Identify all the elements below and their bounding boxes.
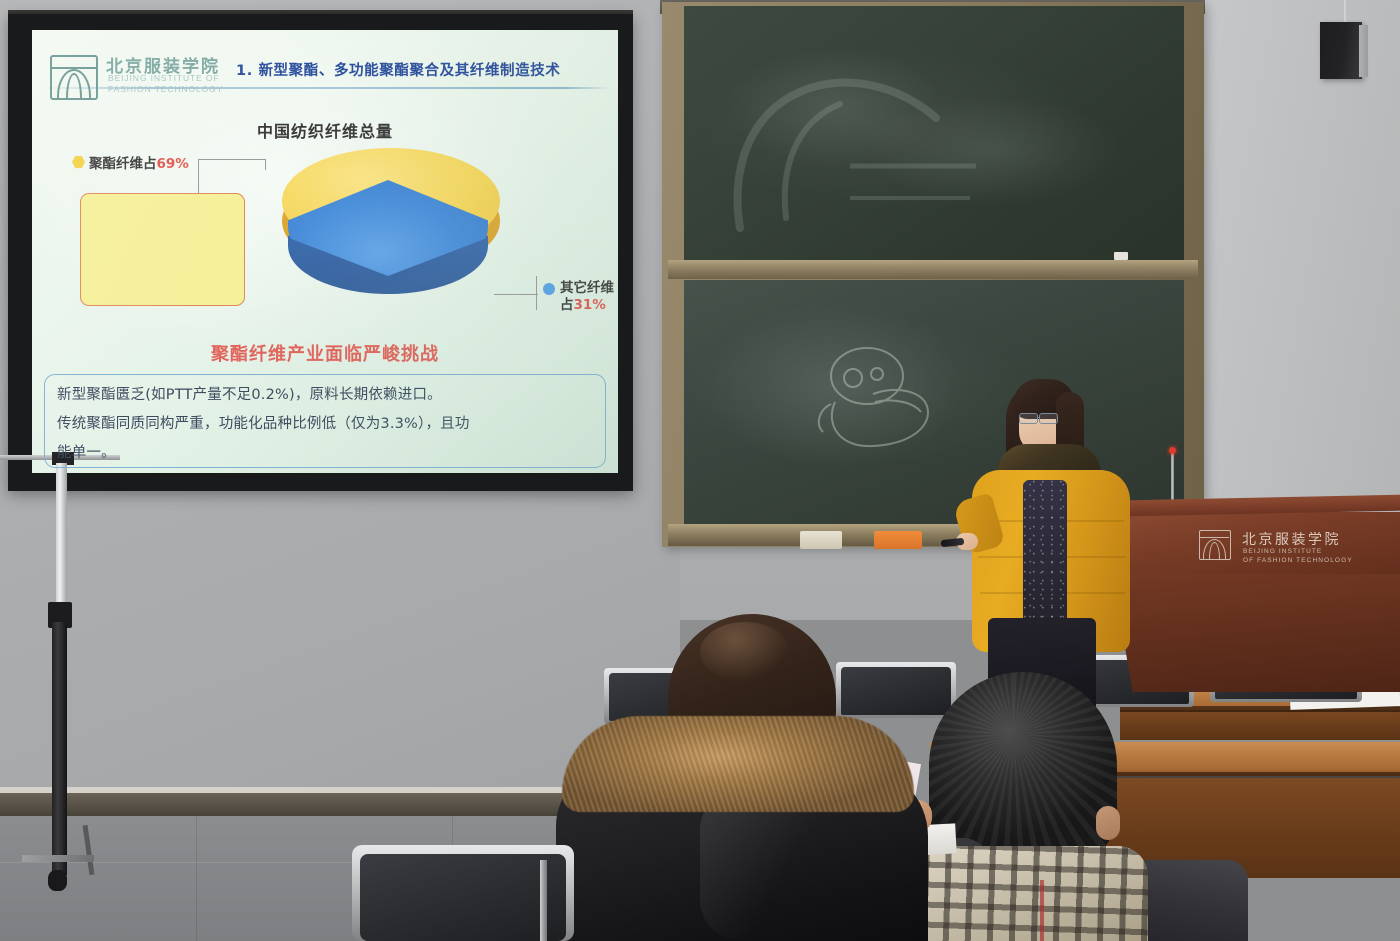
erased-chalk-marks xyxy=(700,48,1000,248)
circle-marker-icon xyxy=(543,283,555,295)
blackboard-upper-panel[interactable] xyxy=(684,6,1184,261)
legend-text-polyester: 聚酯纤维占 xyxy=(89,156,157,172)
callout-line xyxy=(198,159,266,160)
screen-stand-foot xyxy=(22,855,94,862)
slide-title: 1. 新型聚酯、多功能聚酯聚合及其纤维制造技术 xyxy=(236,59,560,80)
presenter-inner-top xyxy=(1023,480,1067,635)
yellow-content-panel xyxy=(80,193,245,306)
podium-institution-name-en: BEIJING INSTITUTE OF FASHION TECHNOLOGY xyxy=(1243,547,1353,565)
podium-base xyxy=(1103,572,1400,692)
podium-arch-emblem-icon xyxy=(1199,530,1231,560)
glasses-left-lens-icon xyxy=(1019,413,1038,424)
screen-stand-pole-upper xyxy=(56,463,67,611)
glasses-bridge-icon xyxy=(1037,417,1040,418)
legend-value-polyester: 69% xyxy=(157,156,189,172)
fur-texture xyxy=(562,716,914,812)
chair-leg xyxy=(540,860,547,941)
blackboard-upper-tray xyxy=(668,260,1198,279)
chair-back[interactable] xyxy=(841,667,951,715)
audience-plaid-scarf xyxy=(908,846,1148,941)
slide-header: 北京服装学院 BEIJING INSTITUTE OF FASHION TECH… xyxy=(32,50,618,106)
slide-body-line: 新型聚酯匮乏(如PTT产量不足0.2%)，原料长期依赖进口。 xyxy=(57,381,593,410)
wall-speaker-icon xyxy=(1320,22,1362,79)
legend-value-other: 31% xyxy=(574,297,606,313)
callout-line xyxy=(265,159,266,170)
legend-text-other-2: 占 xyxy=(560,297,574,313)
chair-back[interactable] xyxy=(360,854,566,941)
hexagon-marker-icon xyxy=(72,156,85,169)
audience-hair-sheen xyxy=(700,622,790,682)
chalk-stick[interactable] xyxy=(1114,252,1128,260)
chalk-cartoon-drawing xyxy=(815,340,965,470)
scarf-red-stripe xyxy=(1040,880,1044,941)
screen-stand-pole-lower xyxy=(52,622,67,875)
wall-speaker-bracket xyxy=(1359,25,1368,77)
slide-body-line: 能单一。 xyxy=(57,439,593,468)
podium-name-en-line2: OF FASHION TECHNOLOGY xyxy=(1243,556,1353,565)
legend-label-other: 其它纤维 占31% xyxy=(560,280,614,314)
pie-chart xyxy=(276,140,506,315)
slide-red-headline: 聚酯纤维产业面临严峻挑战 xyxy=(32,340,618,366)
podium-institution-name-cn: 北京服装学院 xyxy=(1242,529,1341,549)
legend-item-polyester: 聚酯纤维占69% xyxy=(72,152,189,172)
podium-name-en-line1: BEIJING INSTITUTE xyxy=(1243,547,1353,556)
callout-line xyxy=(536,276,537,310)
lecture-hall-scene: 北京服装学院 BEIJING INSTITUTE OF FASHION TECH… xyxy=(0,0,1400,941)
orange-eraser[interactable] xyxy=(874,531,922,549)
red-indicator-light-icon xyxy=(1169,447,1176,454)
callout-line xyxy=(494,294,538,295)
callout-line xyxy=(198,159,199,193)
arch-emblem-icon xyxy=(50,55,98,100)
institution-name-en: BEIJING INSTITUTE OF FASHION TECHNOLOGY xyxy=(108,73,223,95)
institution-name-en-line1: BEIJING INSTITUTE OF xyxy=(108,73,223,84)
white-eraser[interactable] xyxy=(800,531,842,549)
presentation-slide: 北京服装学院 BEIJING INSTITUTE OF FASHION TECH… xyxy=(32,30,618,473)
legend-item-other: 其它纤维 占31% xyxy=(543,280,614,314)
speaker-cable xyxy=(1344,0,1346,24)
glasses-right-lens-icon xyxy=(1039,413,1058,424)
audience-ear xyxy=(1096,806,1120,840)
coat-sheen xyxy=(700,790,820,940)
slide-body-line: 传统聚酯同质同构严重，功能化品种比例低（仅为3.3%），且功 xyxy=(57,410,593,439)
legend-label-polyester: 聚酯纤维占69% xyxy=(89,152,189,172)
desk-front-panel xyxy=(1120,710,1400,740)
screen-stand-wheel[interactable] xyxy=(48,870,67,891)
legend-text-other: 其它纤维 xyxy=(560,280,614,297)
slide-body-box: 新型聚酯匮乏(如PTT产量不足0.2%)，原料长期依赖进口。 传统聚酯同质同构严… xyxy=(44,374,606,468)
institution-name-en-line2: FASHION TECHNOLOGY xyxy=(108,84,223,95)
floor-seam xyxy=(196,816,197,941)
chart-title: 中国纺织纤维总量 xyxy=(32,118,618,142)
